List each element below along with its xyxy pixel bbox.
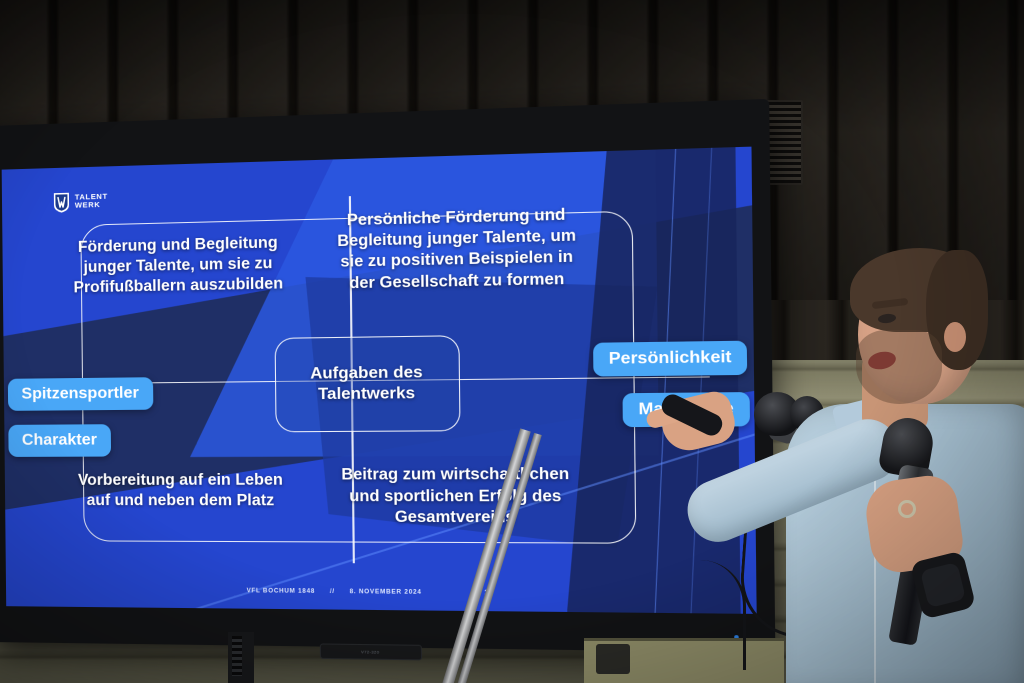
center-title-text: Aufgaben des Talentwerks: [275, 362, 458, 405]
footer-separator: //: [330, 589, 335, 595]
wall-outlet: [596, 644, 630, 674]
logo-line-2: WERK: [75, 201, 108, 211]
presenter-beard: [856, 330, 942, 404]
footer-date: 8. NOVEMBER 2024: [350, 589, 422, 596]
presenter-ear: [944, 322, 966, 352]
vfl-bochum-crest-icon: [53, 192, 70, 214]
center-title-box: Aufgaben des Talentwerks: [274, 335, 460, 432]
presenter-ring: [898, 500, 916, 518]
quadrant-bottom-left: Vorbereitung auf ein Leben auf und neben…: [68, 470, 293, 511]
footer-club: VFL BOCHUM 1848: [247, 588, 316, 595]
display-stand-column: [228, 632, 254, 683]
room-scene: TALENT WERK Förderung und Begleitung jun…: [0, 0, 1024, 683]
quadrant-top-left: Förderung und Begleitung junger Talente,…: [66, 232, 291, 298]
quadrant-bottom-right: Beitrag zum wirtschaftlichen und sportli…: [330, 465, 582, 529]
display-model-badge: V72-320: [319, 643, 421, 660]
talentwerk-logo: TALENT WERK: [53, 191, 108, 214]
badge-charakter[interactable]: Charakter: [8, 424, 111, 457]
quadrant-top-right: Persönliche Förderung und Begleitung jun…: [327, 205, 587, 295]
presenter: [640, 0, 1024, 683]
badge-spitzensportler[interactable]: Spitzensportler: [7, 377, 153, 411]
logo-wordmark: TALENT WERK: [75, 193, 108, 211]
